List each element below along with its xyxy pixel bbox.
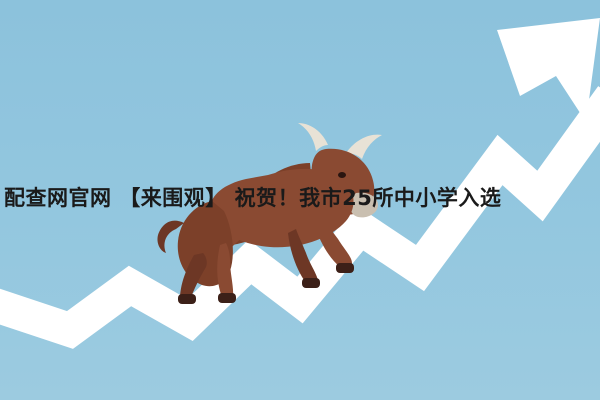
watermark-overlay: 配查网官网 【来围观】 祝贺！我市25所中小学入选 (0, 176, 600, 220)
illustration-canvas: 配查网官网 【来围观】 祝贺！我市25所中小学入选 (0, 0, 600, 400)
watermark-text: 配查网官网 【来围观】 祝贺！我市25所中小学入选 (0, 176, 501, 220)
